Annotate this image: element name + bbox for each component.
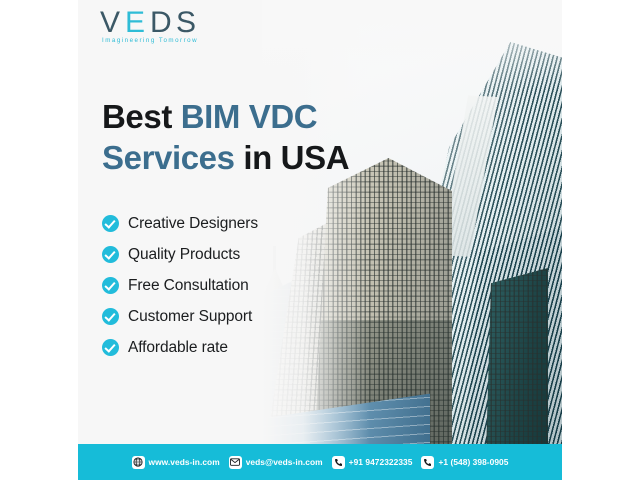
phone-icon [421,456,434,469]
feature-label: Affordable rate [128,339,228,357]
contact-email[interactable]: veds@veds-in.com [229,456,323,469]
ad-creative: V E D S Imagineering Tomorrow Best BIM V… [78,0,562,480]
contact-phone-us[interactable]: +1 (548) 398-0905 [421,456,508,469]
list-item: Quality Products [102,239,372,270]
list-item: Free Consultation [102,270,372,301]
email-text: veds@veds-in.com [246,457,323,467]
check-circle-icon [102,339,119,356]
feature-label: Free Consultation [128,277,249,295]
contact-bar: www.veds-in.com veds@veds-in.com +9 [78,444,562,480]
headline-accent-bimvdc: BIM VDC [181,98,318,135]
list-item: Creative Designers [102,208,372,239]
logo-tagline: Imagineering Tomorrow [102,37,198,44]
feature-label: Customer Support [128,308,252,326]
building-teal-tower [486,268,548,458]
logo-letter-d: D [150,8,173,38]
logo-letter-s: S [176,8,197,38]
headline-accent-services: Services [102,139,235,176]
check-circle-icon [102,215,119,232]
check-circle-icon [102,308,119,325]
envelope-icon [229,456,242,469]
contact-phone-in[interactable]: +91 9472322335 [332,456,413,469]
feature-list: Creative Designers Quality Products Free… [102,208,372,363]
check-circle-icon [102,246,119,263]
logo-letter-e: E [125,8,146,38]
website-text: www.veds-in.com [149,457,220,467]
veds-logo: V E D S Imagineering Tomorrow [100,8,224,50]
contact-website[interactable]: www.veds-in.com [132,456,220,469]
logo-wordmark: V E D S [100,8,224,38]
list-item: Affordable rate [102,332,372,363]
globe-icon [132,456,145,469]
feature-label: Quality Products [128,246,240,264]
headline-word-best: Best [102,98,181,135]
phone-us-text: +1 (548) 398-0905 [438,457,508,467]
feature-label: Creative Designers [128,215,258,233]
banner-canvas: V E D S Imagineering Tomorrow Best BIM V… [0,0,640,480]
phone-in-text: +91 9472322335 [349,457,413,467]
list-item: Customer Support [102,301,372,332]
check-circle-icon [102,277,119,294]
headline-words-in-usa: in USA [235,139,350,176]
page-title: Best BIM VDCServices in USA [102,96,402,178]
logo-letter-v: V [100,8,121,38]
phone-icon [332,456,345,469]
